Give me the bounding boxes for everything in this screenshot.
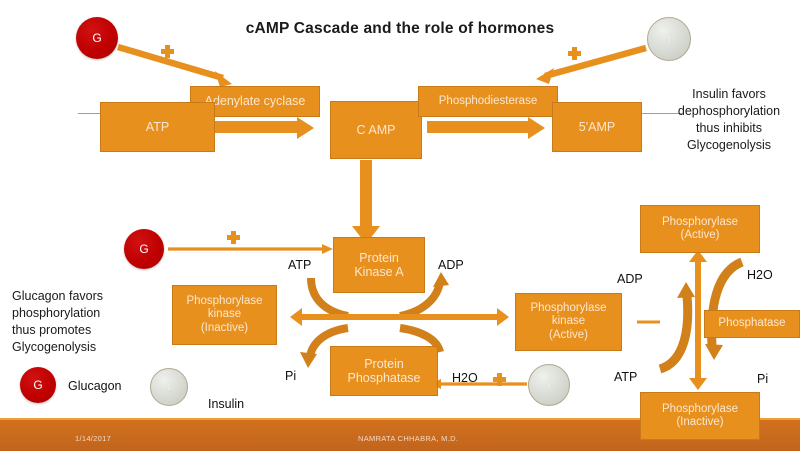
glucagon-circle-middle[interactable]: G <box>124 229 164 269</box>
box-label-line: (Active) <box>681 229 720 242</box>
label-pi-phosphatase: Pi <box>285 369 296 383</box>
legend-label-glucagon: Glucagon <box>68 379 122 393</box>
footer-date: 1/14/2017 <box>75 434 111 443</box>
box-5amp[interactable]: 5'AMP <box>552 102 642 152</box>
box-label-line: (Active) <box>549 329 588 342</box>
slide-canvas: cAMP Cascade and the role of hormones to… <box>0 0 800 451</box>
box-label-line: Kinase A <box>354 265 403 279</box>
box-phosphorylase-kinase-active[interactable]: Phosphorylase kinase (Active) <box>515 293 622 351</box>
glucagon-note: Glucagon favors phosphorylation thus pro… <box>12 288 162 356</box>
label-h2o-phosphatase: H2O <box>452 371 478 385</box>
note-line: Glycogenolysis <box>12 339 162 356</box>
insulin-circle-top[interactable]: I <box>647 17 691 61</box>
plus-icon-glucagon-adenylate <box>161 45 174 58</box>
note-line: Glycogenolysis <box>658 137 800 154</box>
plus-icon-glucagon-pka <box>227 231 240 244</box>
box-label-line: Phosphorylase <box>530 302 606 315</box>
box-label: C AMP <box>357 123 396 137</box>
note-line: Glucagon favors <box>12 288 162 305</box>
label-atp-right: ATP <box>614 370 637 384</box>
label-h2o-right: H2O <box>747 268 773 282</box>
label-pi-right: Pi <box>757 372 768 386</box>
curve-atp-to-adp-right <box>660 282 695 369</box>
label-adp-right: ADP <box>617 272 643 286</box>
box-label: ATP <box>146 120 169 134</box>
box-label-line: Phosphorylase <box>662 403 738 416</box>
box-label-line: Phosphorylase <box>186 295 262 308</box>
box-label-line: kinase <box>552 315 585 328</box>
box-label-line: Protein <box>359 251 399 265</box>
arrow-insulin-to-protein-phosphatase <box>430 379 527 389</box>
insulin-symbol: I <box>667 32 670 46</box>
insulin-note: Insulin favors dephosphorylation thus in… <box>658 86 800 154</box>
footer-author: NAMRATA CHHABRA, M.D. <box>358 434 458 443</box>
insulin-symbol: I <box>547 378 550 392</box>
arrow-camp-to-pka <box>352 160 380 244</box>
arrow-glucagon-to-adenylate-cyclase <box>118 47 232 87</box>
legend-glucagon-circle: G <box>20 367 56 403</box>
box-phosphorylase-active[interactable]: Phosphorylase (Active) <box>640 205 760 253</box>
label-adp-pka: ADP <box>438 258 464 272</box>
box-phosphorylase-inactive[interactable]: Phosphorylase (Inactive) <box>640 392 760 440</box>
box-protein-phosphatase[interactable]: Protein Phosphatase <box>330 346 438 396</box>
box-phosphodiesterase[interactable]: Phosphodiesterase <box>418 86 558 117</box>
box-label-line: kinase <box>208 308 241 321</box>
box-label-line: (Inactive) <box>676 416 723 429</box>
label-atp-pka: ATP <box>288 258 311 272</box>
note-line: phosphorylation <box>12 305 162 322</box>
box-phosphorylase-kinase-inactive[interactable]: Phosphorylase kinase (Inactive) <box>172 285 277 345</box>
arrow-camp-to-amp5 <box>427 117 545 139</box>
arrow-phosphorylase-kinase-interconversion <box>290 308 509 326</box>
box-protein-kinase-a[interactable]: Protein Kinase A <box>333 237 425 293</box>
box-label-line: Phosphorylase <box>662 216 738 229</box>
note-line: thus promotes <box>12 322 162 339</box>
glucagon-symbol: G <box>33 378 42 392</box>
box-atp[interactable]: ATP <box>100 102 215 152</box>
glucagon-circle-top[interactable]: G <box>76 17 118 59</box>
box-label: 5'AMP <box>579 120 615 134</box>
glucagon-symbol: G <box>139 242 148 256</box>
note-line: thus inhibits <box>658 120 800 137</box>
legend-label-insulin: Insulin <box>208 397 244 411</box>
plus-icon-insulin-phosphodiesterase <box>568 47 581 60</box>
box-camp[interactable]: C AMP <box>330 101 422 159</box>
box-phosphatase[interactable]: Phosphatase <box>704 310 800 338</box>
note-line: dephosphorylation <box>658 103 800 120</box>
box-label: Phosphatase <box>718 317 785 330</box>
box-label-line: Phosphatase <box>348 371 421 385</box>
plus-icon-insulin-phosphatase <box>493 373 506 386</box>
insulin-circle-bottom[interactable]: I <box>528 364 570 406</box>
box-label: Phosphodiesterase <box>439 95 537 108</box>
arrow-glucagon-to-pka <box>168 244 333 254</box>
box-label: Adenylate cyclase <box>205 94 306 108</box>
insulin-symbol: I <box>167 380 170 394</box>
box-label-line: (Inactive) <box>201 322 248 335</box>
glucagon-symbol: G <box>92 31 101 45</box>
legend-insulin-circle: I <box>150 368 188 406</box>
note-line: Insulin favors <box>658 86 800 103</box>
arrow-insulin-to-phosphodiesterase <box>536 48 646 84</box>
box-label-line: Protein <box>364 357 404 371</box>
